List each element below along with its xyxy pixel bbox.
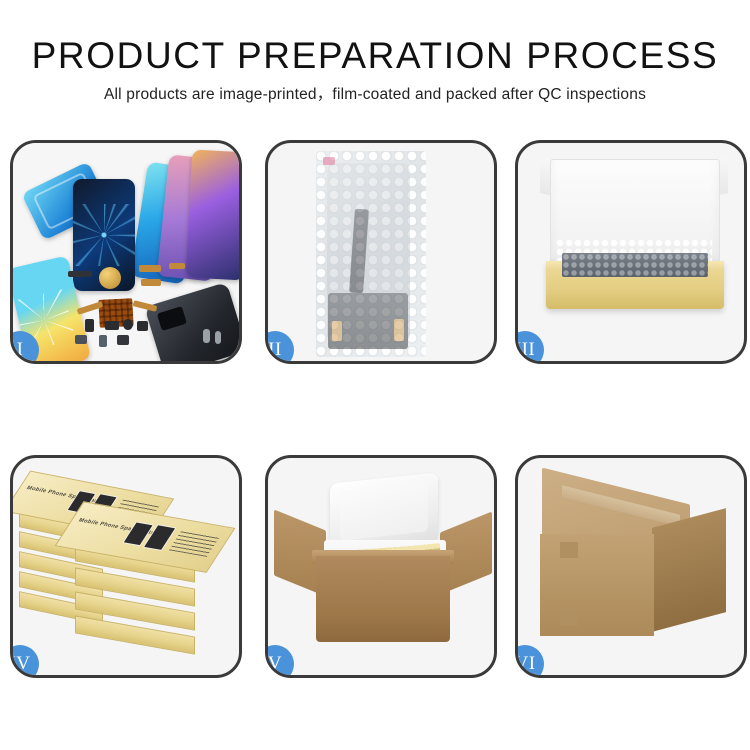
step-panel-4[interactable]: Mobile Phone Spare Parts Mobile Phone Sp… xyxy=(10,455,242,678)
outer-carton xyxy=(316,556,450,642)
grey-bubble-wrap-contents xyxy=(562,253,708,277)
step-5-artwork xyxy=(268,458,494,675)
vibration-motor-part xyxy=(99,267,121,289)
step-4-artwork: Mobile Phone Spare Parts Mobile Phone Sp… xyxy=(13,458,239,675)
step-2-artwork xyxy=(268,143,494,361)
phone-gradient xyxy=(186,150,239,281)
step-panel-3[interactable]: III xyxy=(515,140,747,364)
step-panel-5[interactable]: V xyxy=(265,455,497,678)
process-steps-grid: I II xyxy=(0,0,750,750)
step-1-artwork xyxy=(13,143,239,361)
carton-front-face xyxy=(540,534,654,636)
step-panel-1[interactable]: I xyxy=(10,140,242,364)
step-panel-2[interactable]: II xyxy=(265,140,497,364)
step-6-artwork xyxy=(518,458,744,675)
product-preparation-infographic: PRODUCT PREPARATION PROCESS All products… xyxy=(0,0,750,750)
carton-side-face xyxy=(652,508,726,632)
step-panel-6[interactable]: VI xyxy=(515,455,747,678)
step-3-artwork xyxy=(518,143,744,361)
